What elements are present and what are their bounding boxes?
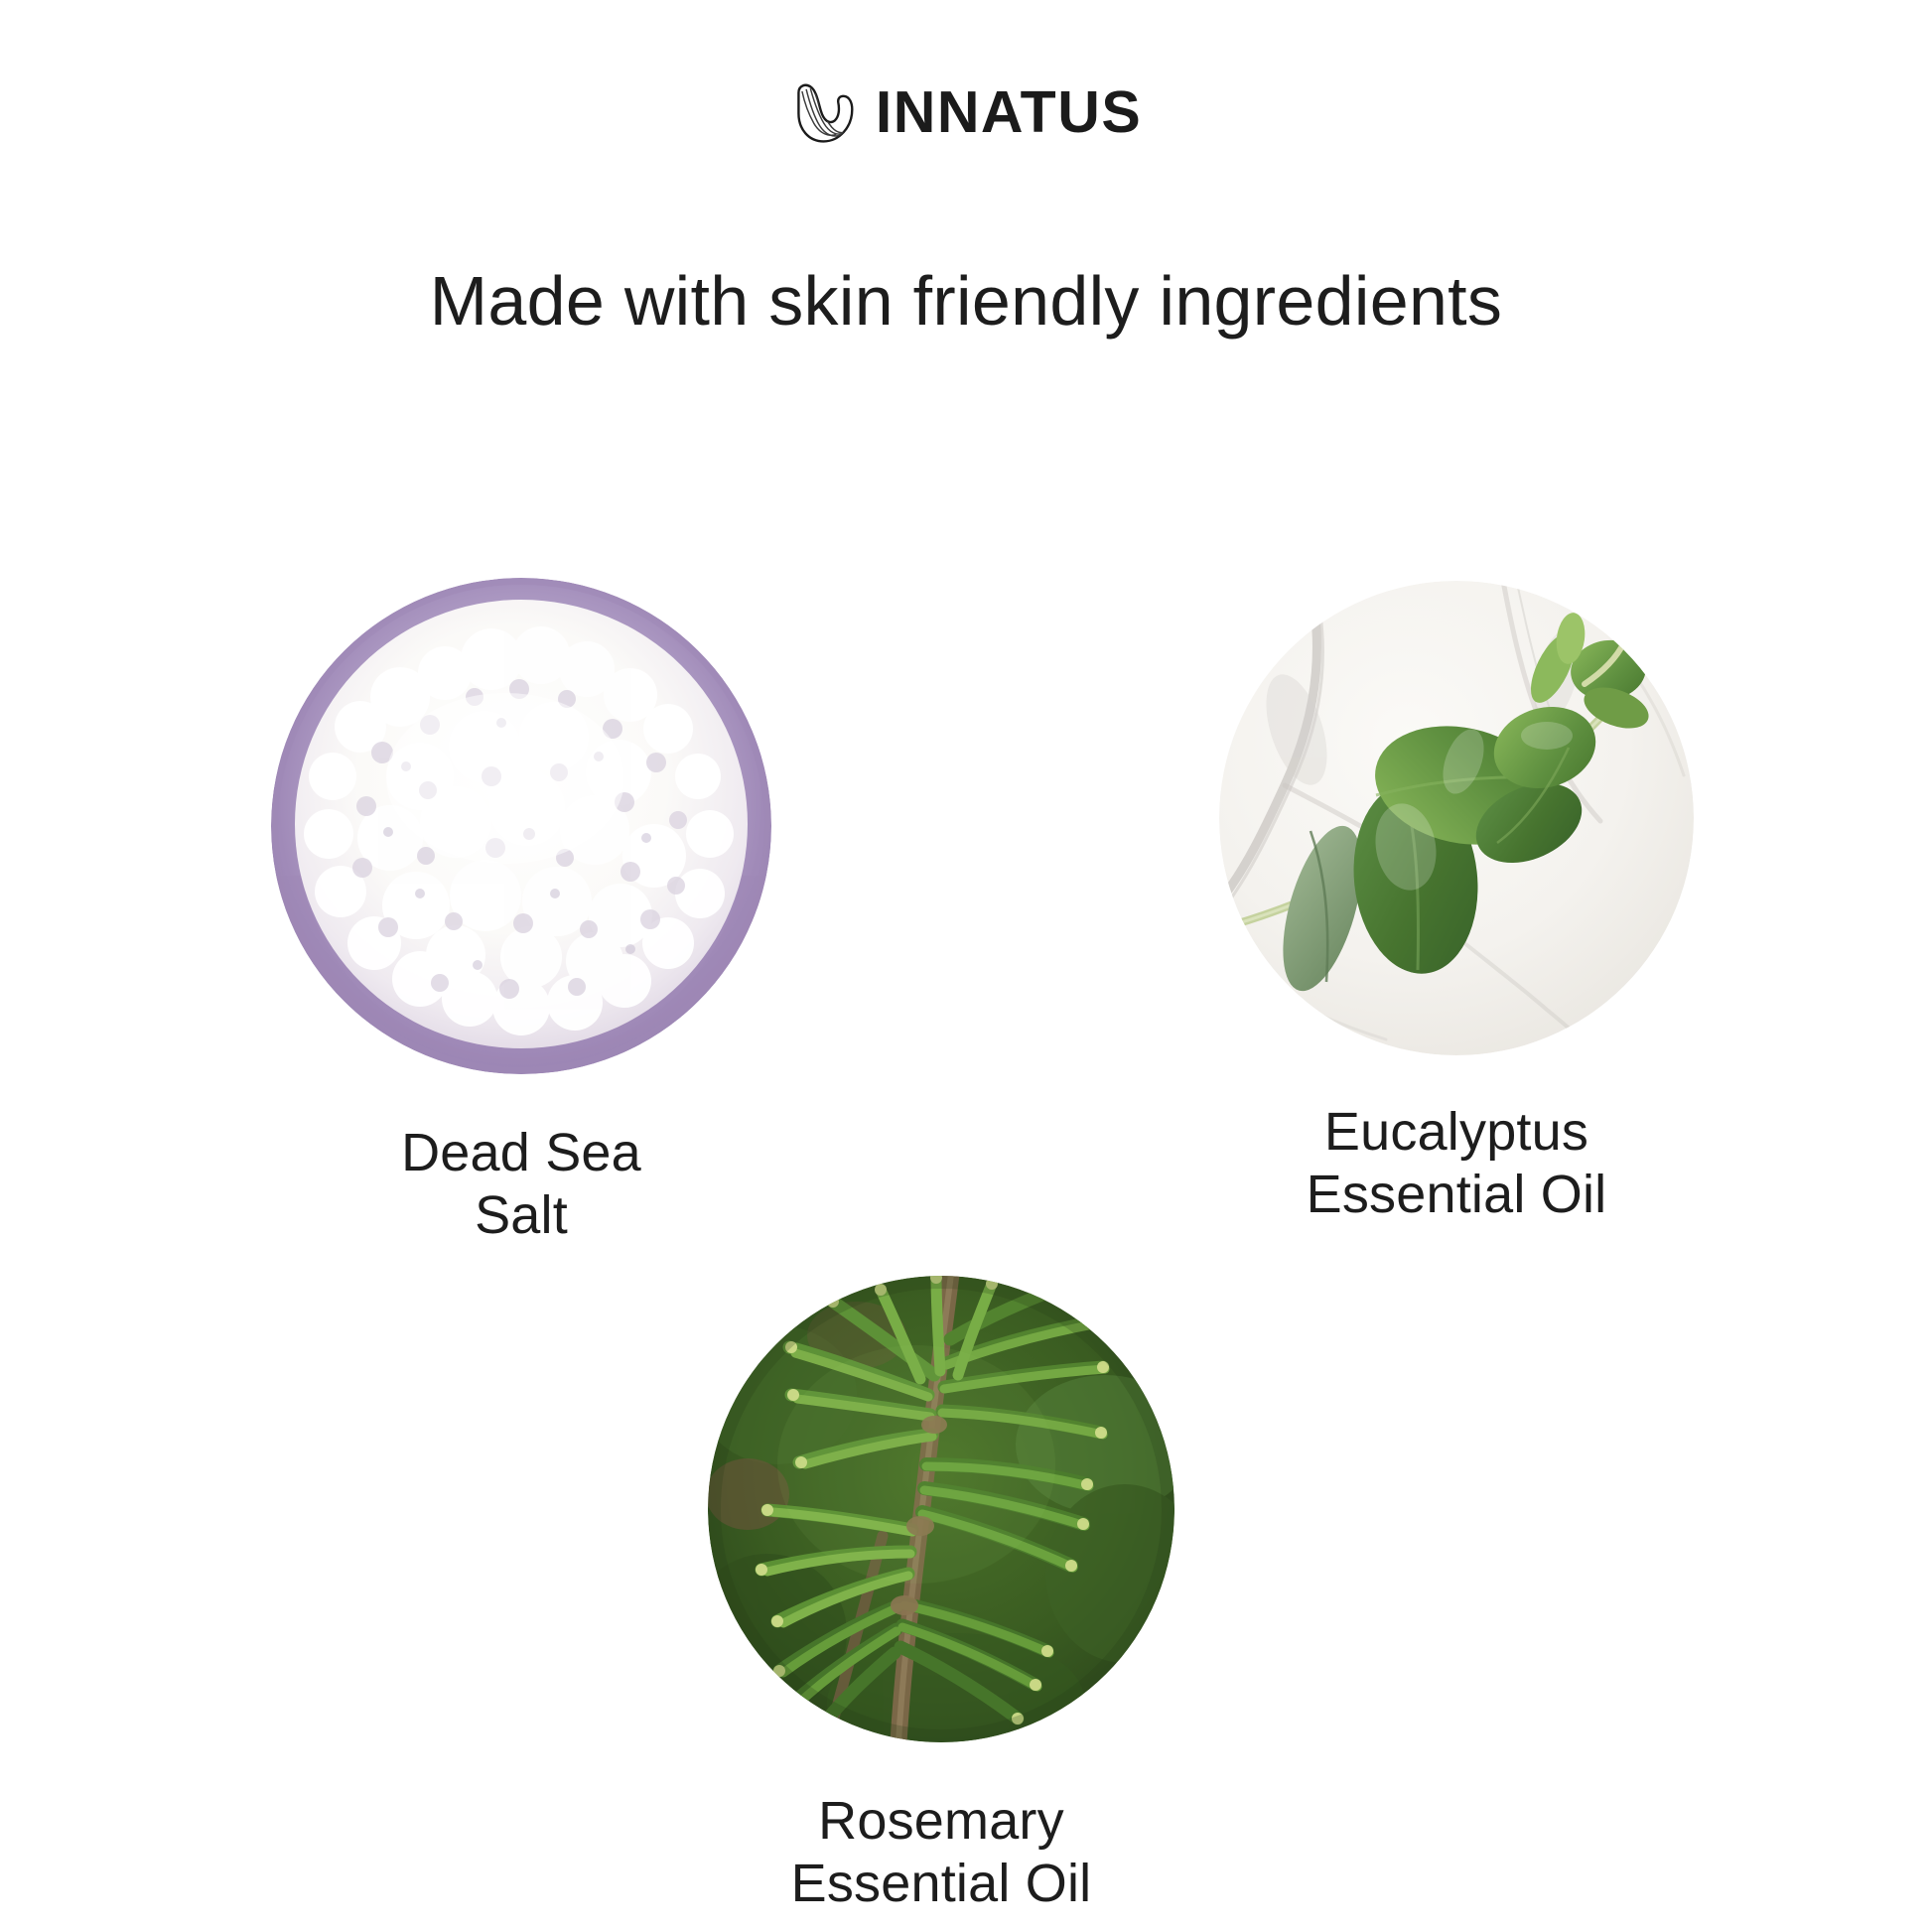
ingredient-eucalyptus-essential-oil: Eucalyptus Essential Oil: [1219, 581, 1694, 1225]
dead-sea-salt-image: [271, 578, 771, 1074]
brand-name: INNATUS: [876, 83, 1142, 142]
dead-sea-salt-photo: [271, 578, 771, 1074]
rosemary-needles-photo: [708, 1276, 1174, 1742]
ingredients-infographic: INNATUS Made with skin friendly ingredie…: [0, 0, 1932, 1932]
ingredient-rosemary-essential-oil: Rosemary Essential Oil: [708, 1276, 1174, 1914]
ingredient-label: Dead Sea Salt: [271, 1122, 771, 1246]
ingredient-label: Eucalyptus Essential Oil: [1219, 1101, 1694, 1225]
shell-leaf-logo-icon: [790, 77, 860, 147]
rosemary-image: [708, 1276, 1174, 1742]
brand-header: INNATUS: [0, 77, 1932, 147]
page-title: Made with skin friendly ingredients: [0, 266, 1932, 336]
eucalyptus-image: [1219, 581, 1694, 1055]
eucalyptus-sprig-on-marble-photo: [1219, 581, 1694, 1055]
ingredient-label: Rosemary Essential Oil: [708, 1790, 1174, 1914]
ingredient-dead-sea-salt: Dead Sea Salt: [271, 578, 771, 1246]
